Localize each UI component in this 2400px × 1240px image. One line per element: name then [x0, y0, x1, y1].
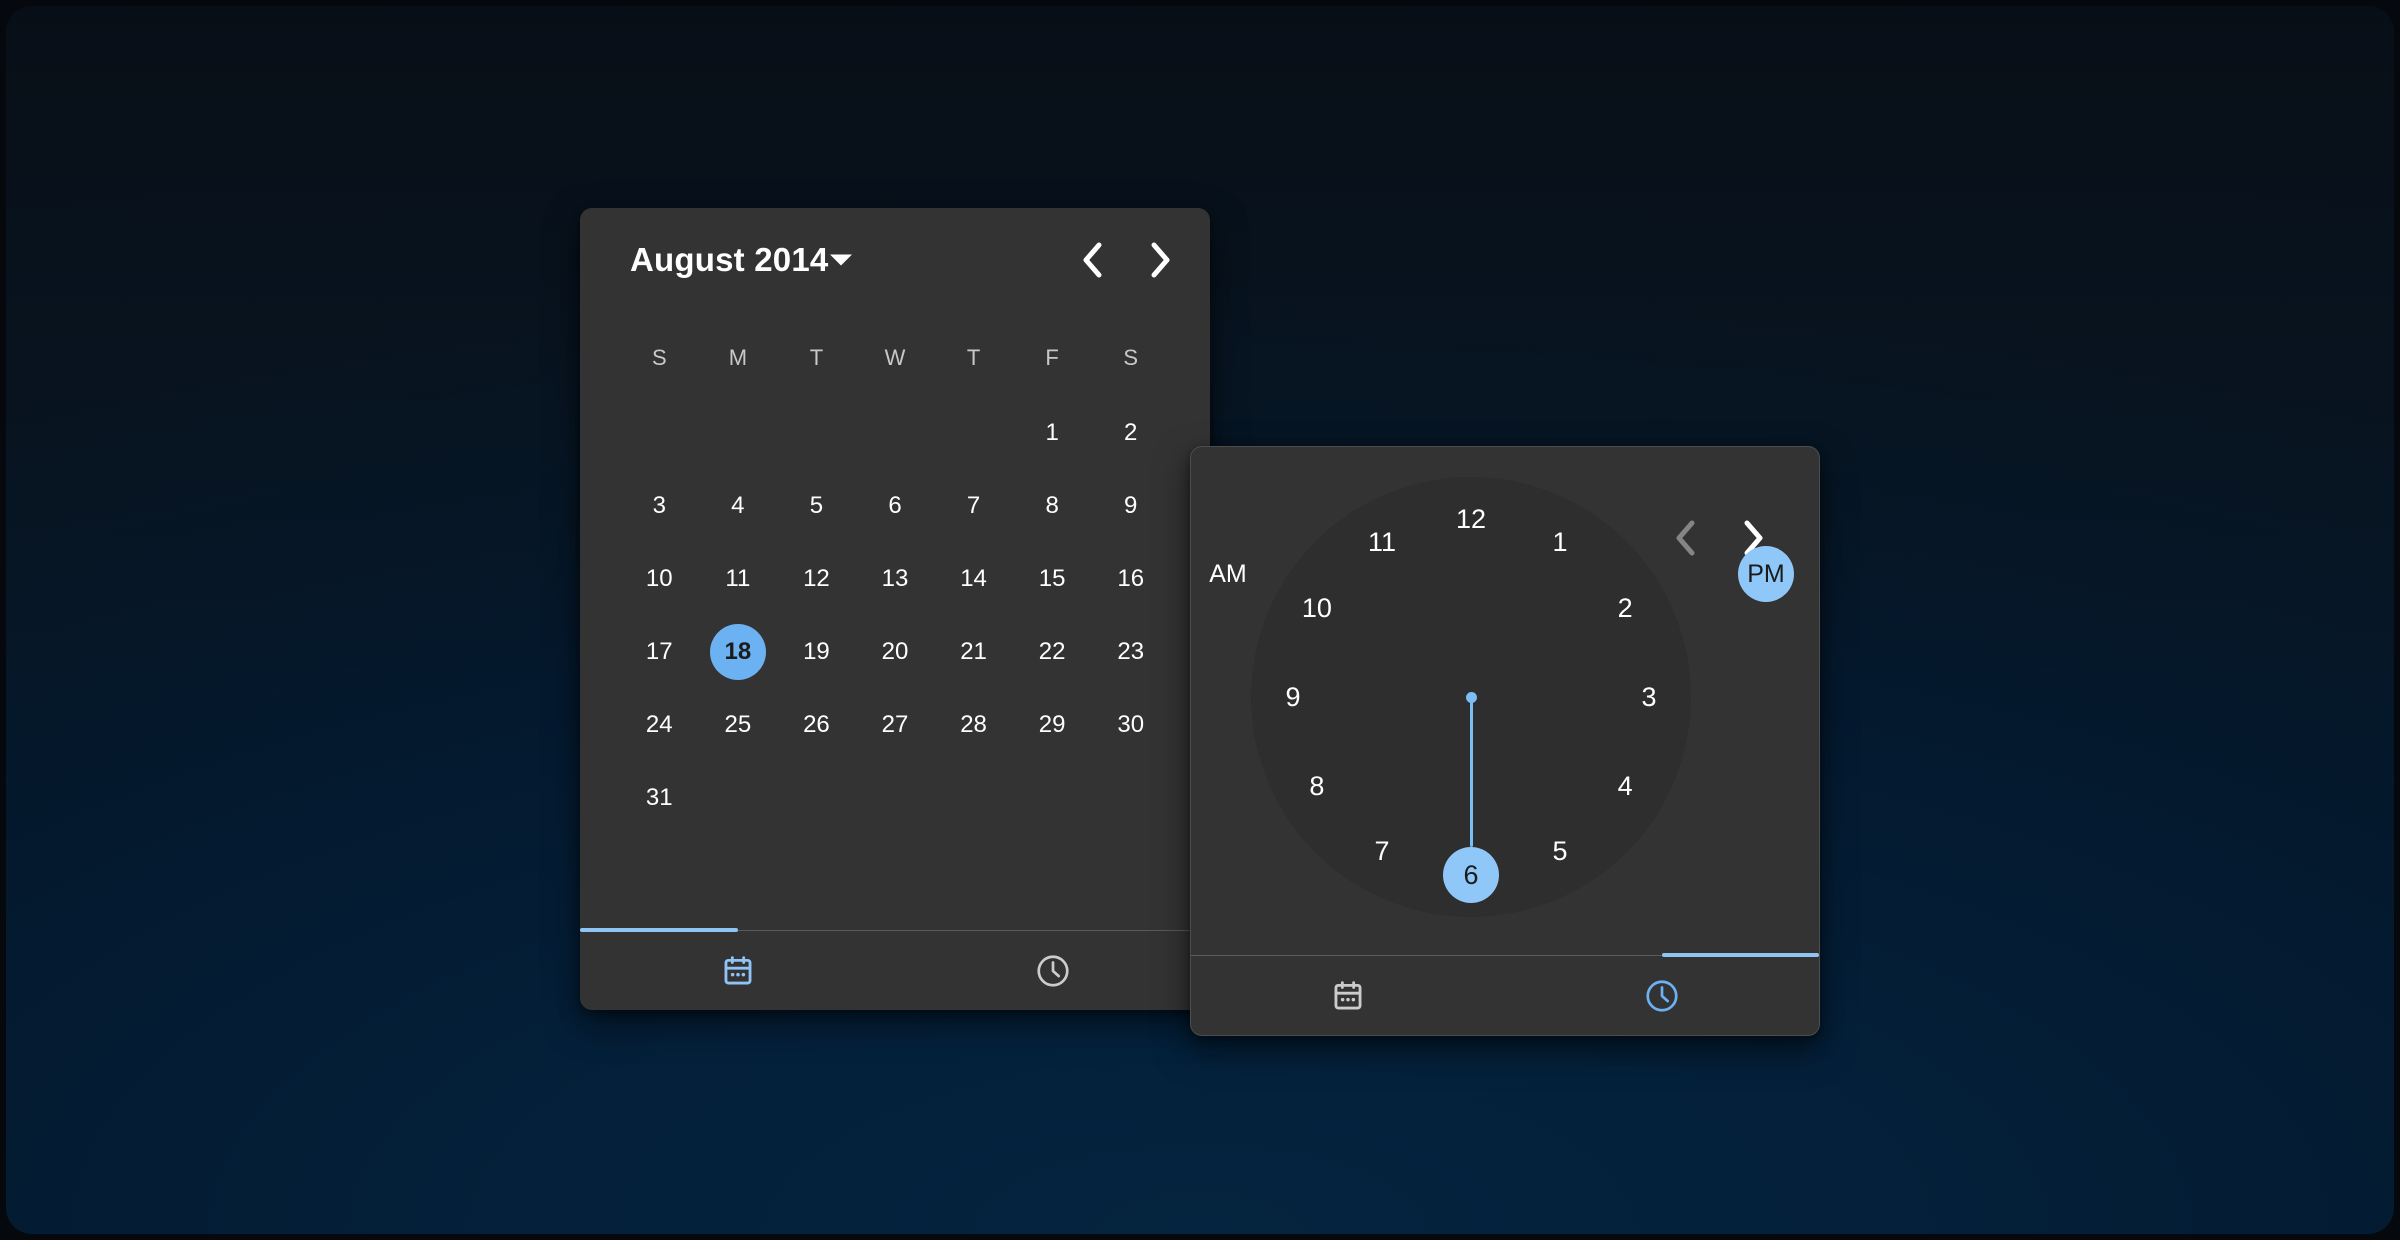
day-cell-empty: [620, 396, 699, 469]
date-picker-tabbar: [580, 930, 1210, 1010]
day-cell-30[interactable]: 30: [1091, 688, 1170, 761]
day-cell-6[interactable]: 6: [856, 469, 935, 542]
day-number: 11: [725, 567, 750, 591]
chevron-left-icon: [1079, 240, 1105, 280]
day-number: 6: [888, 494, 901, 518]
day-cell-13[interactable]: 13: [856, 542, 935, 615]
day-number: 15: [1039, 567, 1066, 591]
tab-date[interactable]: [1191, 956, 1505, 1035]
day-number: 31: [646, 786, 673, 810]
day-number: 4: [731, 494, 744, 518]
clock-hour-selected[interactable]: 6: [1443, 847, 1499, 903]
day-number: 28: [960, 713, 987, 737]
weekday-label-6: S: [1091, 343, 1170, 373]
clock-hour-12[interactable]: 12: [1443, 491, 1499, 547]
clock-hand: [1470, 697, 1473, 847]
day-cell-empty: [934, 396, 1013, 469]
clock-hour-5[interactable]: 5: [1532, 823, 1588, 879]
day-cell-19[interactable]: 19: [777, 615, 856, 688]
clock-hour-7[interactable]: 7: [1354, 823, 1410, 879]
clock-hour-11[interactable]: 11: [1354, 515, 1410, 571]
day-number: 14: [960, 567, 987, 591]
weekday-label-0: S: [620, 343, 699, 373]
day-cell-12[interactable]: 12: [777, 542, 856, 615]
time-picker-panel: 121234567891011 AM PM: [1190, 446, 1820, 1036]
clock-hour-3[interactable]: 3: [1621, 669, 1677, 725]
time-picker-tabbar: [1191, 955, 1819, 1035]
clock-hour-1[interactable]: 1: [1532, 515, 1588, 571]
day-cell-empty: [777, 396, 856, 469]
day-number: 20: [882, 640, 909, 664]
day-number: 23: [1117, 640, 1144, 664]
day-number: 13: [882, 567, 909, 591]
day-number: 7: [967, 494, 980, 518]
clock-icon: [1643, 977, 1681, 1015]
day-cell-17[interactable]: 17: [620, 615, 699, 688]
day-cell-24[interactable]: 24: [620, 688, 699, 761]
next-month-button[interactable]: [1133, 233, 1187, 287]
day-cell-11[interactable]: 11: [699, 542, 778, 615]
day-number: 26: [803, 713, 830, 737]
day-cell-7[interactable]: 7: [934, 469, 1013, 542]
weekday-label-5: F: [1013, 343, 1092, 373]
day-cell-16[interactable]: 16: [1091, 542, 1170, 615]
day-number: 18: [725, 640, 752, 664]
day-number: 17: [646, 640, 673, 664]
month-year-label: August 2014: [630, 241, 828, 279]
pm-button[interactable]: PM: [1738, 546, 1794, 602]
tab-date[interactable]: [580, 931, 895, 1010]
weekday-label-2: T: [777, 343, 856, 373]
day-number: 3: [653, 494, 666, 518]
active-tab-indicator: [580, 928, 738, 932]
day-cell-20[interactable]: 20: [856, 615, 935, 688]
day-cell-8[interactable]: 8: [1013, 469, 1092, 542]
day-cell-29[interactable]: 29: [1013, 688, 1092, 761]
caret-down-icon[interactable]: [830, 255, 852, 266]
weekday-label-1: M: [699, 343, 778, 373]
active-tab-indicator: [1662, 953, 1819, 957]
am-button[interactable]: AM: [1200, 546, 1256, 602]
day-number: 19: [803, 640, 830, 664]
clock-icon: [1034, 952, 1072, 990]
day-number: 27: [882, 713, 909, 737]
day-cell-28[interactable]: 28: [934, 688, 1013, 761]
day-number: 21: [960, 640, 987, 664]
day-cell-1[interactable]: 1: [1013, 396, 1092, 469]
tab-time[interactable]: [1505, 956, 1819, 1035]
date-picker-header: August 2014: [580, 208, 1210, 312]
day-cell-4[interactable]: 4: [699, 469, 778, 542]
day-cell-3[interactable]: 3: [620, 469, 699, 542]
day-cell-2[interactable]: 2: [1091, 396, 1170, 469]
day-number: 29: [1039, 713, 1066, 737]
weekday-header-row: SMTWTFS: [620, 343, 1170, 373]
day-number: 30: [1117, 713, 1144, 737]
day-number: 8: [1045, 494, 1058, 518]
day-number: 5: [810, 494, 823, 518]
chevron-right-icon: [1147, 240, 1173, 280]
date-picker-panel: August 2014 SMTWTFS 12345678910111213141…: [580, 208, 1210, 1010]
day-cell-5[interactable]: 5: [777, 469, 856, 542]
clock-hour-9[interactable]: 9: [1265, 669, 1321, 725]
day-number: 9: [1124, 494, 1137, 518]
day-number: 2: [1124, 421, 1137, 445]
clock-hour-10[interactable]: 10: [1289, 580, 1345, 636]
prev-time-button[interactable]: [1658, 511, 1712, 565]
weekday-label-4: T: [934, 343, 1013, 373]
weekday-label-3: W: [856, 343, 935, 373]
chevron-left-icon: [1672, 518, 1698, 558]
day-number: 1: [1045, 421, 1058, 445]
day-number: 25: [725, 713, 752, 737]
day-cell-9[interactable]: 9: [1091, 469, 1170, 542]
day-number: 22: [1039, 640, 1066, 664]
day-cell-27[interactable]: 27: [856, 688, 935, 761]
tab-time[interactable]: [895, 931, 1210, 1010]
day-cell-23[interactable]: 23: [1091, 615, 1170, 688]
day-number: 12: [803, 567, 830, 591]
clock-dial[interactable]: 121234567891011: [1251, 477, 1691, 917]
day-cell-empty: [699, 396, 778, 469]
calendar-icon: [721, 954, 755, 988]
day-cell-22[interactable]: 22: [1013, 615, 1092, 688]
day-cell-15[interactable]: 15: [1013, 542, 1092, 615]
screen-root: August 2014 SMTWTFS 12345678910111213141…: [0, 0, 2400, 1240]
day-cell-21[interactable]: 21: [934, 615, 1013, 688]
day-number: 24: [646, 713, 673, 737]
clock-center-dot: [1466, 692, 1477, 703]
clock-hour-8[interactable]: 8: [1289, 758, 1345, 814]
clock-hour-2[interactable]: 2: [1597, 580, 1653, 636]
day-cell-10[interactable]: 10: [620, 542, 699, 615]
day-cell-selected[interactable]: 18: [699, 615, 778, 688]
day-cell-26[interactable]: 26: [777, 688, 856, 761]
day-number: 10: [646, 567, 673, 591]
day-grid: 1234567891011121314151617181920212223242…: [620, 396, 1170, 834]
day-cell-empty: [856, 396, 935, 469]
day-cell-14[interactable]: 14: [934, 542, 1013, 615]
day-cell-31[interactable]: 31: [620, 761, 699, 834]
day-cell-25[interactable]: 25: [699, 688, 778, 761]
calendar-icon: [1331, 979, 1365, 1013]
day-number: 16: [1117, 567, 1144, 591]
clock-hour-4[interactable]: 4: [1597, 758, 1653, 814]
prev-month-button[interactable]: [1065, 233, 1119, 287]
